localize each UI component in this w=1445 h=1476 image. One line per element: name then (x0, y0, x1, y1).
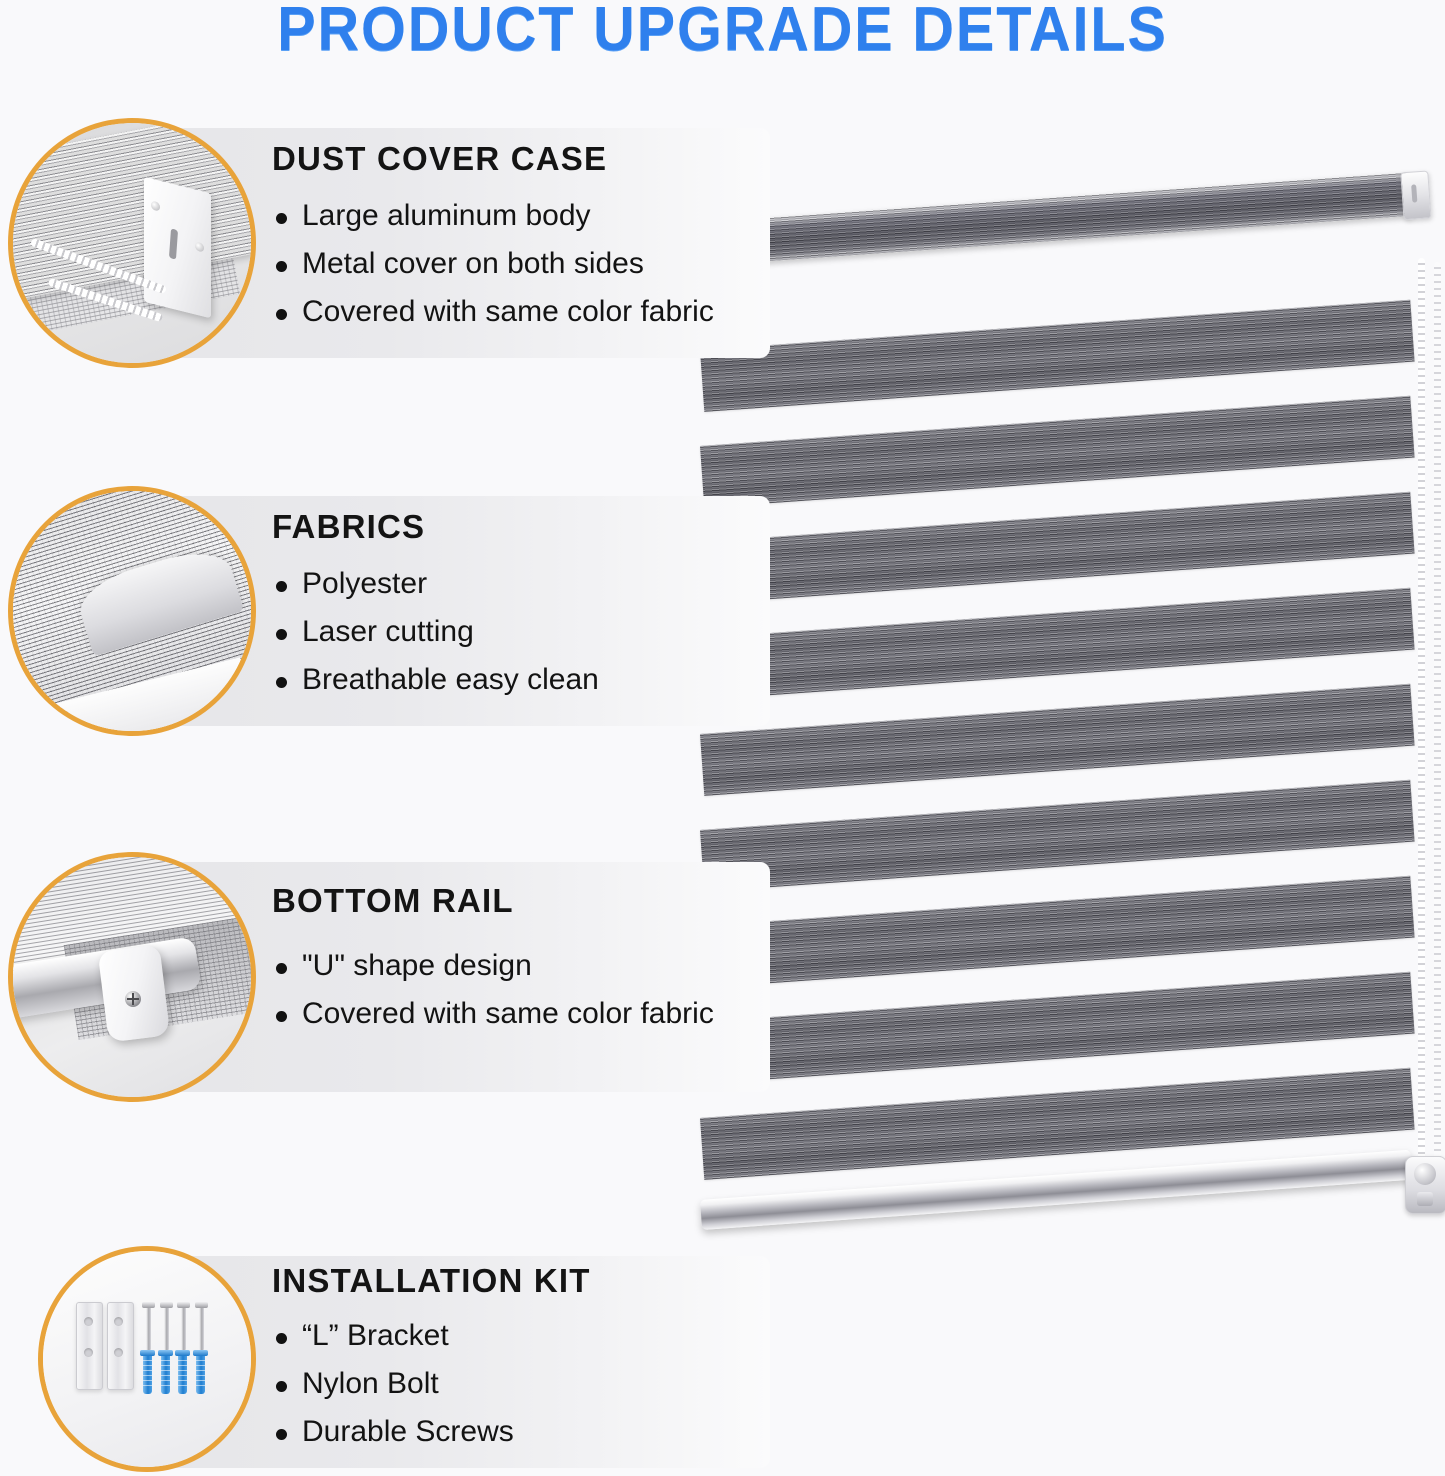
fabrics-photo (13, 491, 251, 731)
durable-screw (199, 1306, 204, 1350)
feature-bullet-list: “L” Bracket Nylon Bolt Durable Screws (272, 1312, 756, 1456)
feature-bullet: "U" shape design (272, 942, 756, 990)
blind-band (700, 684, 1415, 796)
infographic-page: PRODUCT UPGRADE DETAILS DUST COVER CASE … (0, 0, 1445, 1476)
dust-cover-case-photo (13, 123, 251, 363)
feature-bottom-rail: BOTTOM RAIL "U" shape design Covered wit… (0, 852, 770, 1102)
blind-headrail (700, 172, 1413, 266)
bead-chain[interactable] (1418, 258, 1425, 1193)
nylon-bolt-anchor (143, 1354, 152, 1394)
feature-title: DUST COVER CASE (272, 140, 756, 178)
feature-bullet-list: "U" shape design Covered with same color… (272, 942, 756, 1038)
installation-kit-photo (43, 1251, 251, 1467)
feature-title: BOTTOM RAIL (272, 882, 756, 920)
white-metal-end-cap (144, 177, 211, 318)
feature-bullet: Large aluminum body (272, 192, 756, 240)
feature-bullet: Covered with same color fabric (272, 288, 756, 336)
feature-title: FABRICS (272, 508, 756, 546)
product-image-zebra-blind (700, 222, 1445, 1232)
feature-text-block: FABRICS Polyester Laser cutting Breathab… (272, 508, 756, 736)
blind-band (700, 396, 1415, 508)
nylon-bolt-anchor (196, 1354, 205, 1394)
feature-bullet: Laser cutting (272, 608, 756, 656)
feature-bullet: Metal cover on both sides (272, 240, 756, 288)
l-bracket (76, 1302, 103, 1389)
headrail-endcap (1400, 170, 1431, 220)
feature-bullet: Durable Screws (272, 1408, 756, 1456)
blind-band (700, 492, 1415, 604)
page-title: PRODUCT UPGRADE DETAILS (51, 0, 1395, 64)
feature-bullet-list: Polyester Laser cutting Breathable easy … (272, 560, 756, 704)
feature-photo-installation-kit (38, 1246, 256, 1472)
feature-fabrics: FABRICS Polyester Laser cutting Breathab… (0, 486, 770, 736)
feature-installation-kit: INSTALLATION KIT “L” Bracket Nylon Bolt … (0, 1242, 770, 1476)
feature-title: INSTALLATION KIT (272, 1262, 756, 1300)
feature-text-block: BOTTOM RAIL "U" shape design Covered wit… (272, 882, 756, 1102)
nylon-bolt-anchor (161, 1354, 170, 1394)
blind-band (700, 300, 1415, 412)
feature-bullet-list: Large aluminum body Metal cover on both … (272, 192, 756, 336)
feature-photo-bottom-rail (8, 852, 256, 1102)
feature-photo-dust-cover-case (8, 118, 256, 368)
blind-band (700, 780, 1415, 892)
bottom-rail-photo (13, 857, 251, 1097)
l-bracket (107, 1302, 134, 1389)
feature-photo-fabrics (8, 486, 256, 736)
durable-screw (164, 1306, 169, 1350)
feature-bullet: Polyester (272, 560, 756, 608)
blind-band (700, 876, 1415, 988)
durable-screw (146, 1306, 151, 1350)
chain-tensioner[interactable] (1405, 1156, 1445, 1214)
durable-screw (181, 1306, 186, 1350)
blind-band (700, 588, 1415, 700)
blind-band (700, 972, 1415, 1084)
feature-bullet: “L” Bracket (272, 1312, 756, 1360)
feature-bullet: Covered with same color fabric (272, 990, 756, 1038)
feature-dust-cover-case: DUST COVER CASE Large aluminum body Meta… (0, 118, 770, 368)
kit-parts-group (76, 1299, 222, 1398)
bead-chain-loop[interactable] (1434, 262, 1441, 1192)
nylon-bolt-anchor (178, 1354, 187, 1394)
feature-bullet: Breathable easy clean (272, 656, 756, 704)
feature-bullet: Nylon Bolt (272, 1360, 756, 1408)
feature-text-block: DUST COVER CASE Large aluminum body Meta… (272, 140, 756, 368)
feature-text-block: INSTALLATION KIT “L” Bracket Nylon Bolt … (272, 1262, 756, 1476)
